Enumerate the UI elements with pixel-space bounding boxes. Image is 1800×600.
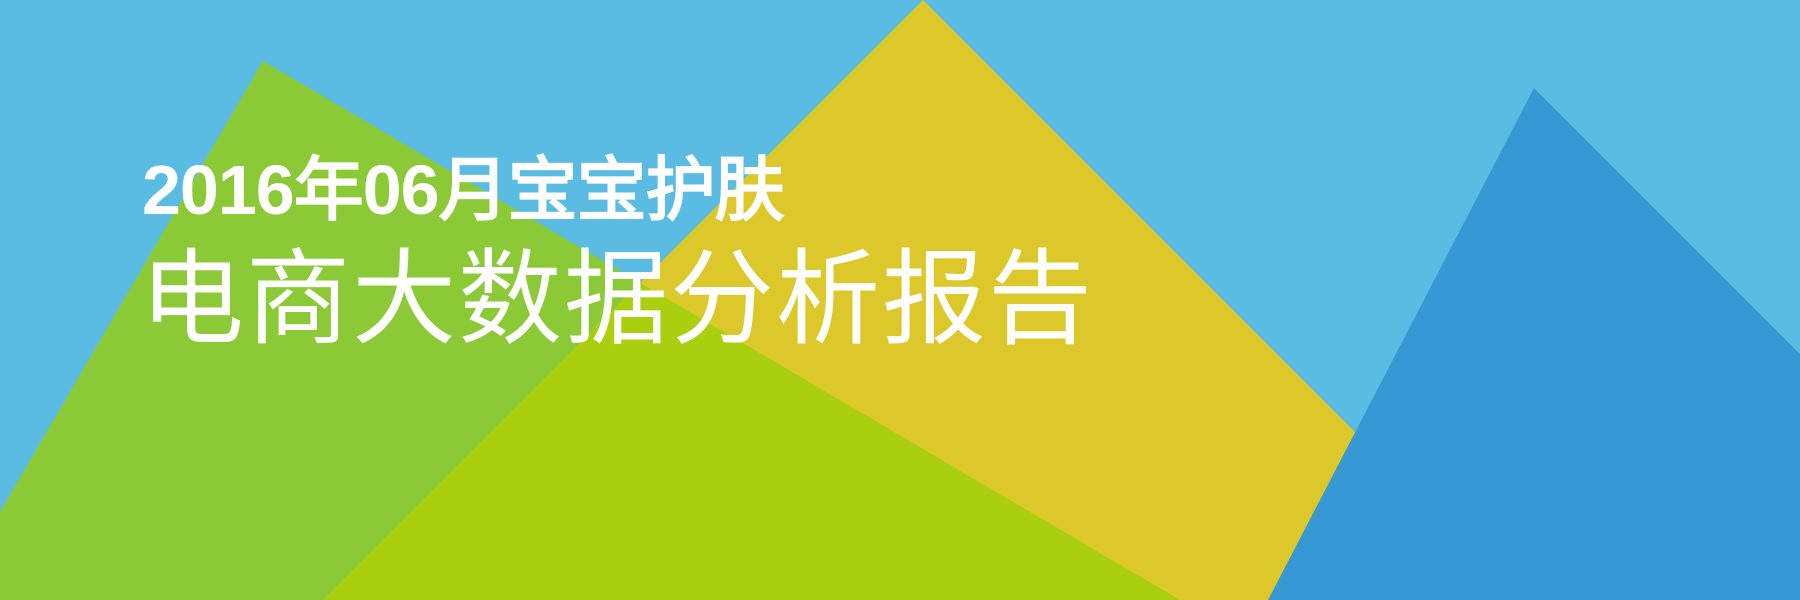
report-cover-banner: 2016年06月宝宝护肤 电商大数据分析报告 [0, 0, 1800, 600]
background-geometric-artwork [0, 0, 1800, 600]
